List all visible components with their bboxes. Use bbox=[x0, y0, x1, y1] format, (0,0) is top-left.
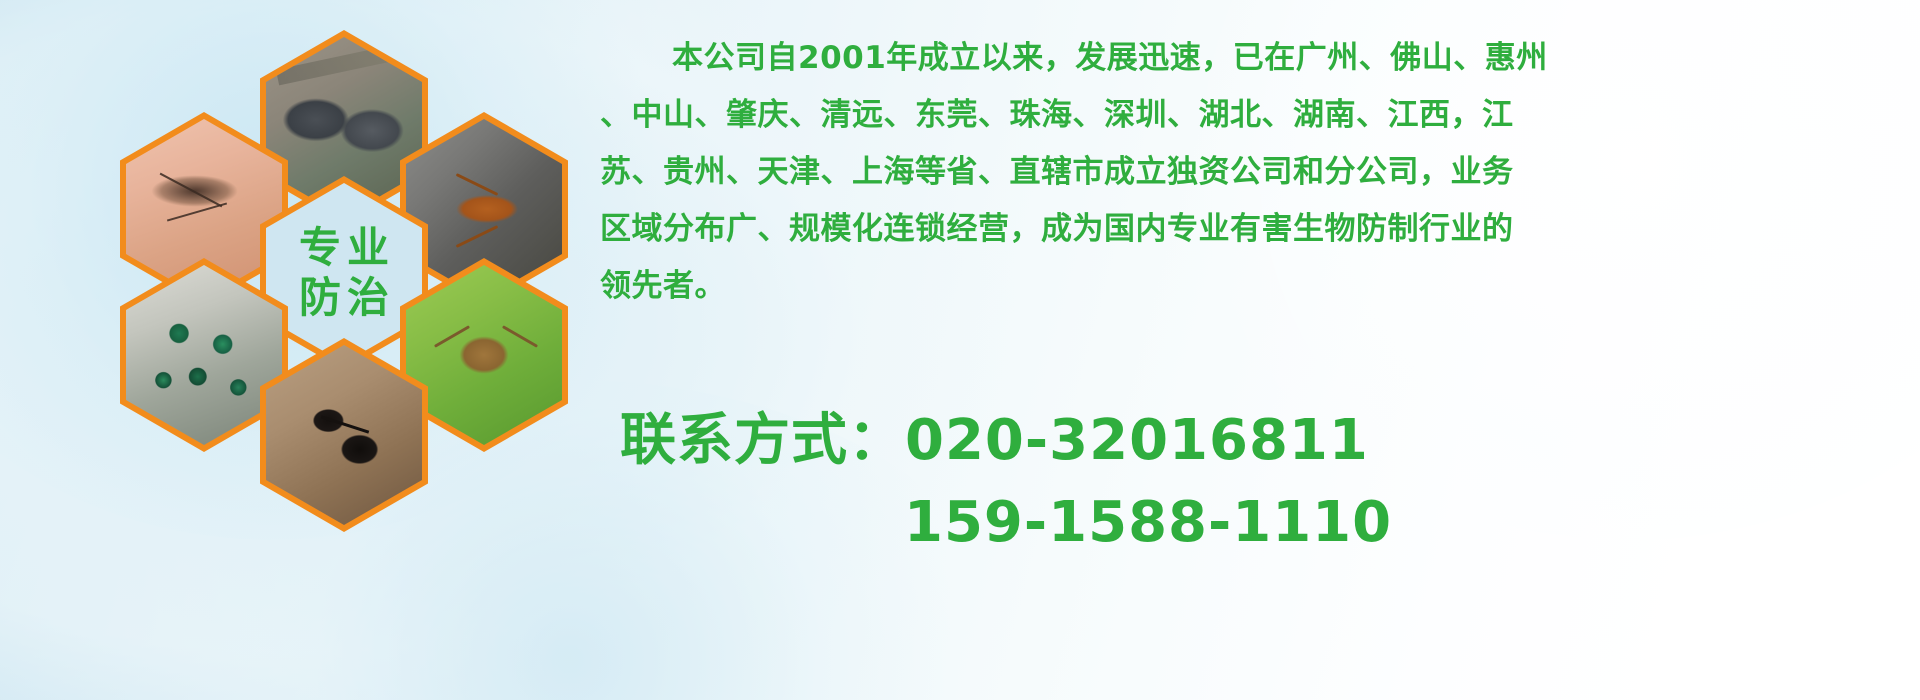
contact-primary-phone[interactable]: 联系方式：020-32016811 bbox=[620, 400, 1880, 482]
intro-paragraph: 本公司自2001年成立以来，发展迅速，已在广州、佛山、惠州 、中山、肇庆、清远、… bbox=[600, 30, 1900, 315]
intro-line: 本公司自2001年成立以来，发展迅速，已在广州、佛山、惠州 bbox=[600, 30, 1900, 87]
logo-text-line-2: 防治 bbox=[293, 273, 395, 323]
contact-block: 联系方式：020-32016811 159-1588-1110 bbox=[620, 400, 1880, 564]
promotional-banner: 专业 防治 本公司自2001年成立以来，发展迅速，已在广州、佛山、惠州 、中山、… bbox=[0, 0, 1920, 700]
copy-column: 本公司自2001年成立以来，发展迅速，已在广州、佛山、惠州 、中山、肇庆、清远、… bbox=[600, 30, 1900, 315]
logo-text-line-1: 专业 bbox=[293, 223, 395, 273]
contact-secondary-phone[interactable]: 159-1588-1110 bbox=[620, 482, 1880, 564]
intro-line: 领先者。 bbox=[600, 258, 1900, 315]
intro-line: 区域分布广、规模化连锁经营，成为国内专业有害生物防制行业的 bbox=[600, 201, 1900, 258]
intro-line: 苏、贵州、天津、上海等省、直辖市成立独资公司和分公司，业务 bbox=[600, 144, 1900, 201]
hexagon-photo-collage: 专业 防治 bbox=[88, 8, 588, 568]
intro-line: 、中山、肇庆、清远、东莞、珠海、深圳、湖北、湖南、江西，江 bbox=[600, 87, 1900, 144]
